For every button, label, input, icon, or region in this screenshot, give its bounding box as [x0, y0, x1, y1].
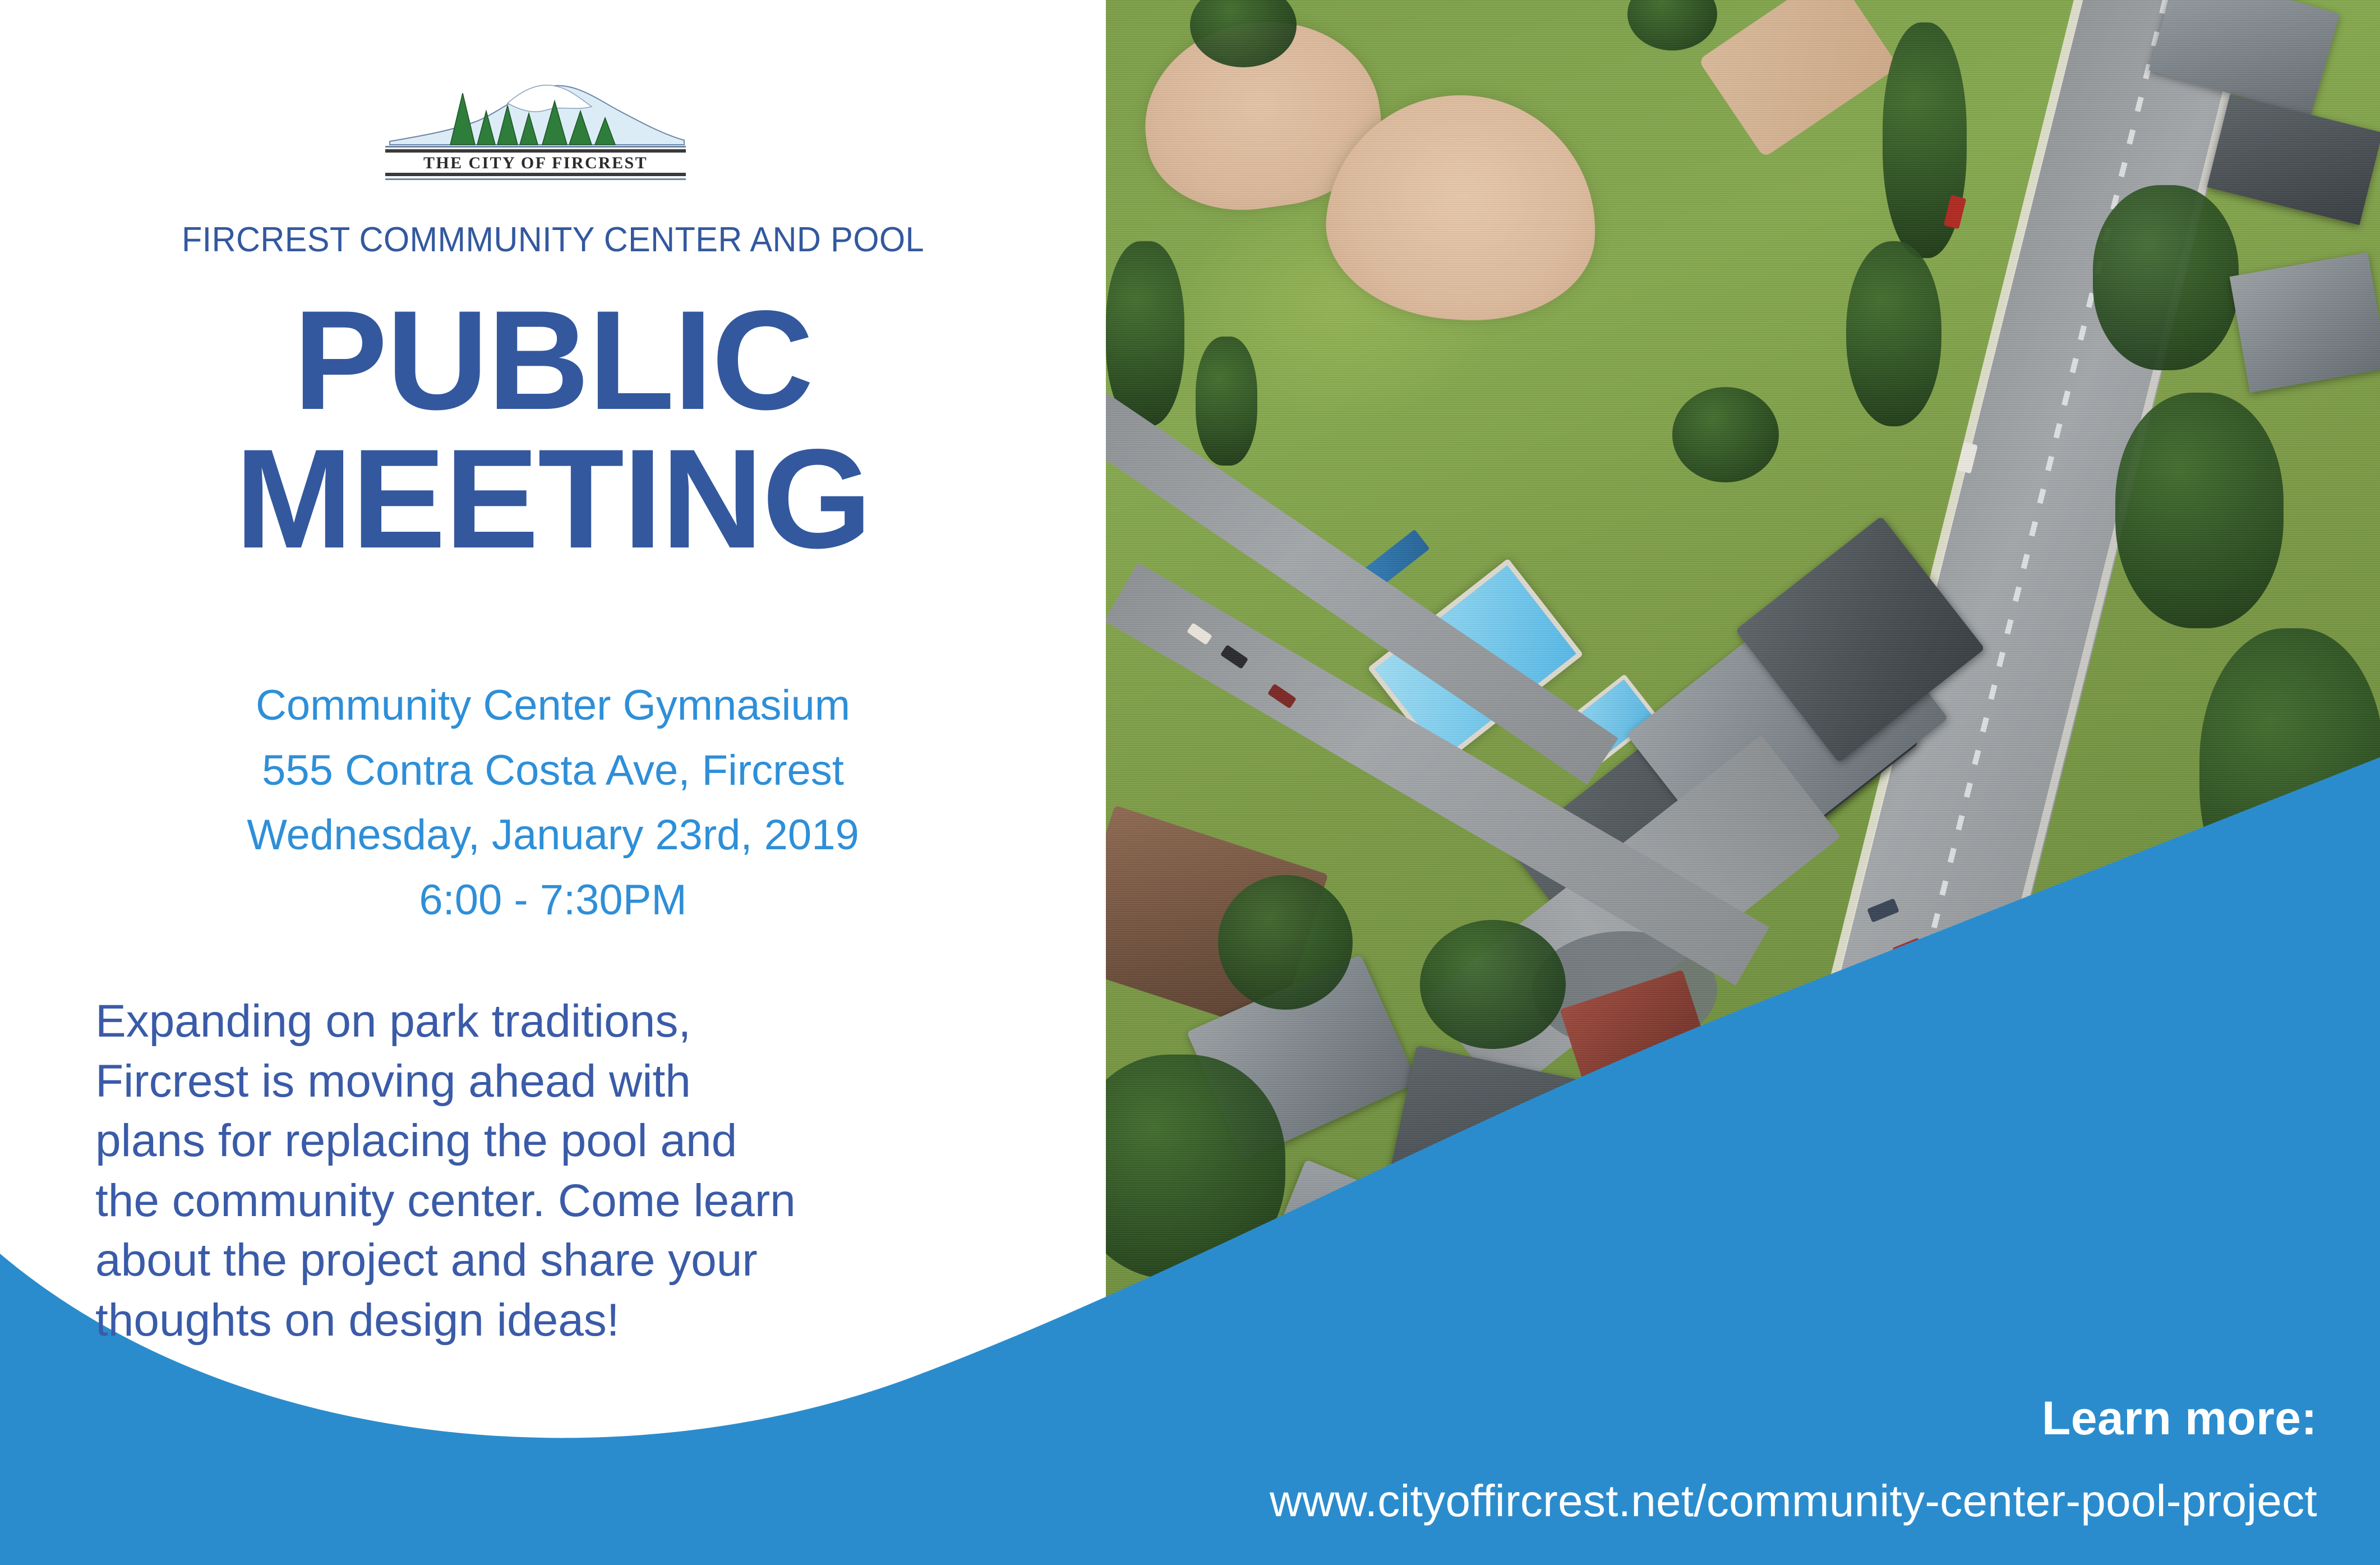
page-title-line1: PUBLIC — [293, 282, 813, 439]
logo-rule-top — [385, 146, 686, 148]
event-address: 555 Contra Costa Ave, Fircrest — [0, 738, 1106, 803]
content-column: THE CITY OF FIRCREST FIRCREST COMMMUNITY… — [0, 0, 1106, 1565]
rooftop — [2207, 95, 2380, 225]
page-title-line2: MEETING — [0, 430, 1106, 569]
tree-cluster — [1420, 920, 1566, 1049]
tree-cluster — [1106, 241, 1184, 426]
body-line-1: Expanding on park traditions, — [95, 992, 1015, 1052]
body-line-6: thoughts on design ideas! — [95, 1291, 1015, 1351]
organization-line: FIRCREST COMMMUNITY CENTER AND POOL — [22, 220, 1083, 260]
body-line-3: plans for replacing the pool and — [95, 1111, 1015, 1171]
logo-rule-bottom — [385, 178, 686, 180]
learn-more-label: Learn more: — [2042, 1391, 2317, 1446]
body-line-2: Fircrest is moving ahead with — [95, 1052, 1015, 1112]
mountain-snowcap — [508, 85, 592, 112]
tree-cluster — [1627, 0, 1717, 50]
body-paragraph: Expanding on park traditions, Fircrest i… — [95, 992, 1015, 1351]
tree-cluster — [2093, 185, 2239, 370]
tree-cluster — [1218, 875, 1353, 1010]
logo-caption: THE CITY OF FIRCREST — [423, 154, 648, 172]
tree-cluster — [2115, 393, 2284, 628]
body-line-4: the community center. Come learn — [95, 1171, 1015, 1231]
logo-rule-top-bold — [385, 149, 686, 153]
body-line-5: about the project and share your — [95, 1231, 1015, 1291]
tree-cluster — [1196, 337, 1257, 466]
project-website-url[interactable]: www.cityoffircrest.net/community-center-… — [1270, 1475, 2317, 1527]
tree-cluster — [1672, 387, 1779, 482]
event-venue: Community Center Gymnasium — [0, 673, 1106, 738]
event-time: 6:00 - 7:30PM — [0, 868, 1106, 933]
rooftop — [2230, 252, 2380, 393]
page-title: PUBLIC MEETING — [0, 292, 1106, 569]
flyer-page: THE CITY OF FIRCREST FIRCREST COMMMUNITY… — [0, 0, 2380, 1565]
event-details: Community Center Gymnasium 555 Contra Co… — [0, 673, 1106, 932]
city-of-fircrest-logo: THE CITY OF FIRCREST — [367, 79, 704, 185]
tree-cluster — [1846, 241, 1941, 426]
tennis-court-area — [1698, 0, 1899, 158]
logo-rule-bottom-bold — [385, 173, 686, 176]
event-date: Wednesday, January 23rd, 2019 — [0, 803, 1106, 868]
